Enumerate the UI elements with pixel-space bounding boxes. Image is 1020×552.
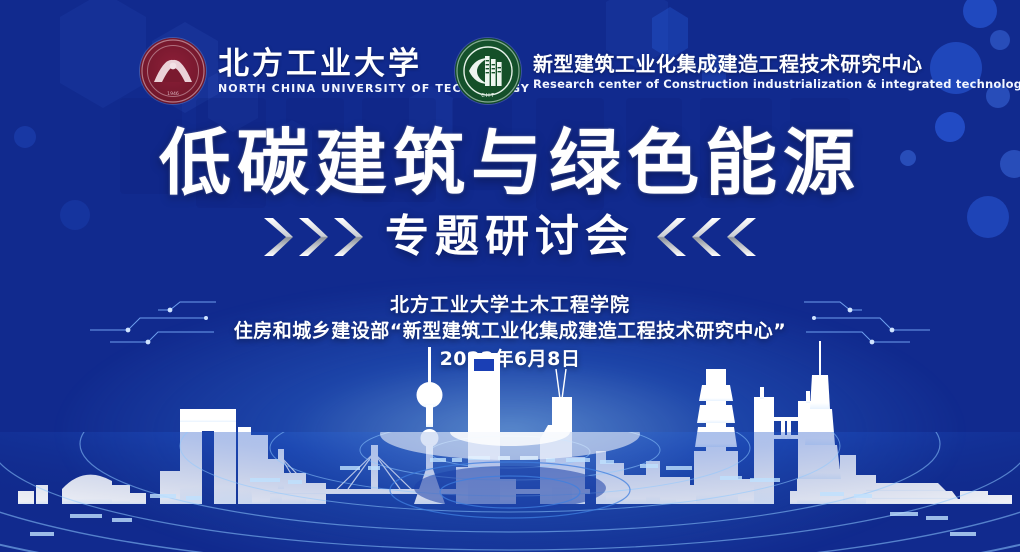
double-chevron-right-icon: [260, 215, 363, 259]
tech-radar-floor: [0, 432, 1020, 552]
research-center-name-cn: 新型建筑工业化集成建造工程技术研究中心: [533, 52, 1020, 77]
logo-research-center: CIIT 新型建筑工业化集成建造工程技术研究中心 Research center…: [455, 38, 1020, 104]
research-center-name-en: Research center of Construction industri…: [533, 77, 1020, 91]
poster-canvas: 1946 北方工业大学 NORTH CHINA UNIVERSITY OF TE…: [0, 0, 1020, 552]
poster-subtitle-row: 专题研讨会: [0, 206, 1020, 268]
double-chevron-left-icon: [657, 215, 760, 259]
organizer-line-1: 北方工业大学土木工程学院: [0, 292, 1020, 318]
svg-text:CIIT: CIIT: [481, 93, 495, 99]
poster-main-title: 低碳建筑与绿色能源: [0, 124, 1020, 202]
poster-subtitle: 专题研讨会: [385, 211, 635, 263]
bokeh-dot: [963, 0, 997, 28]
svg-text:1946: 1946: [167, 91, 179, 97]
research-center-seal-icon: CIIT: [455, 38, 521, 104]
ncut-seal-icon: 1946: [140, 38, 206, 104]
logo-row: 1946 北方工业大学 NORTH CHINA UNIVERSITY OF TE…: [0, 36, 1020, 110]
